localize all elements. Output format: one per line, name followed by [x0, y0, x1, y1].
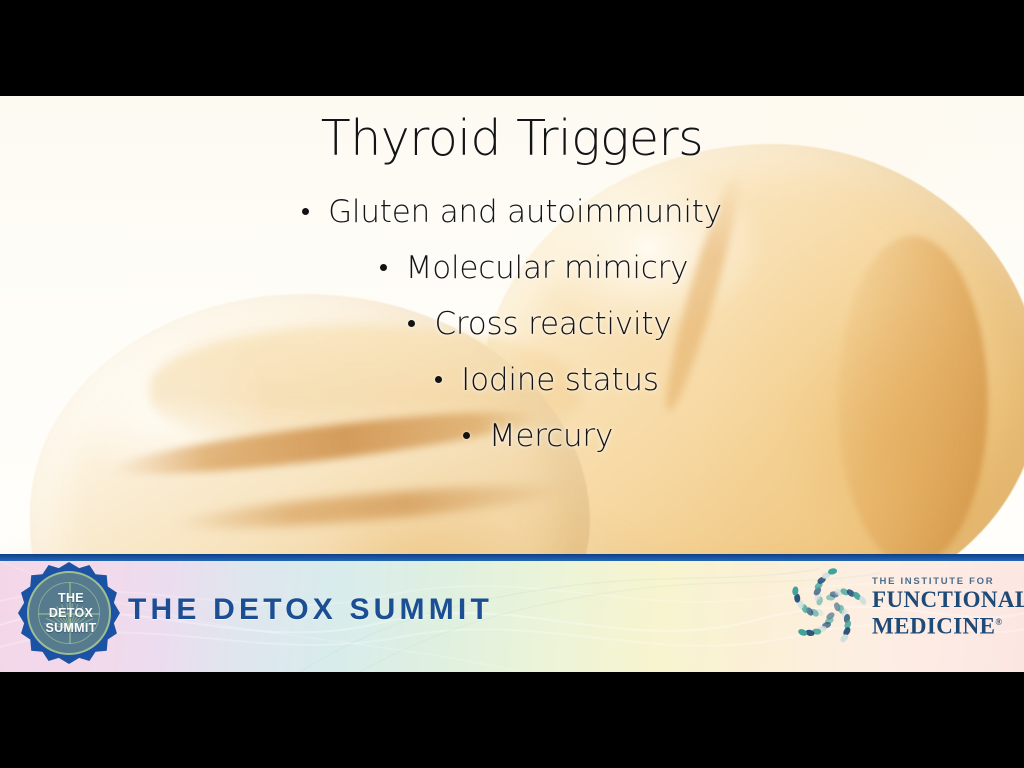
bullet-item: Molecular mimicry	[0, 250, 1024, 286]
slide-screen: Thyroid Triggers Gluten and autoimmunity…	[0, 0, 1024, 768]
bullet-text: Cross reactivity	[434, 306, 671, 342]
bullet-dot-icon	[408, 320, 415, 327]
bullet-text: Gluten and autoimmunity	[328, 194, 722, 230]
badge-label: THE DETOX SUMMIT	[29, 591, 111, 636]
bullet-text: Mercury	[489, 418, 613, 454]
bullet-item: Iodine status	[0, 362, 1024, 398]
badge-label-line1: THE	[29, 591, 111, 606]
bullet-item: Mercury	[0, 418, 1024, 454]
badge-label-line2: DETOX	[29, 606, 111, 621]
letterbox-bottom-bar	[0, 672, 1024, 768]
bullet-text: Iodine status	[461, 362, 659, 398]
detox-summit-wordmark: THE DETOX SUMMIT	[128, 593, 493, 627]
bullet-item: Cross reactivity	[0, 306, 1024, 342]
badge-inner-disc: THE DETOX SUMMIT	[27, 571, 111, 655]
badge-label-line3: SUMMIT	[29, 621, 111, 636]
bullet-item: Gluten and autoimmunity	[0, 194, 1024, 230]
ifm-spiral-dots-icon	[790, 570, 864, 644]
bullet-dot-icon	[463, 432, 470, 439]
bullet-list: Gluten and autoimmunityMolecular mimicry…	[0, 194, 1024, 474]
ifm-registered-mark: ®	[995, 617, 1002, 627]
bullet-dot-icon	[435, 376, 442, 383]
ifm-line-functional: FUNCTIONAL	[872, 588, 1012, 611]
institute-functional-medicine-logo: THE INSTITUTE FOR FUNCTIONAL MEDICINE®	[790, 568, 1012, 650]
bullet-dot-icon	[380, 264, 387, 271]
letterbox-top-bar	[0, 0, 1024, 96]
detox-summit-seal-icon: THE DETOX SUMMIT	[18, 562, 120, 664]
ifm-line-medicine: MEDICINE®	[872, 611, 1012, 638]
ifm-wordmark: THE INSTITUTE FOR FUNCTIONAL MEDICINE®	[872, 576, 1012, 638]
footer-divider-rule	[0, 554, 1024, 561]
presentation-slide: Thyroid Triggers Gluten and autoimmunity…	[0, 96, 1024, 672]
ifm-medicine-text: MEDICINE	[872, 614, 995, 639]
slide-title: Thyroid Triggers	[0, 110, 1024, 167]
bullet-text: Molecular mimicry	[406, 250, 689, 286]
bullet-dot-icon	[302, 208, 309, 215]
